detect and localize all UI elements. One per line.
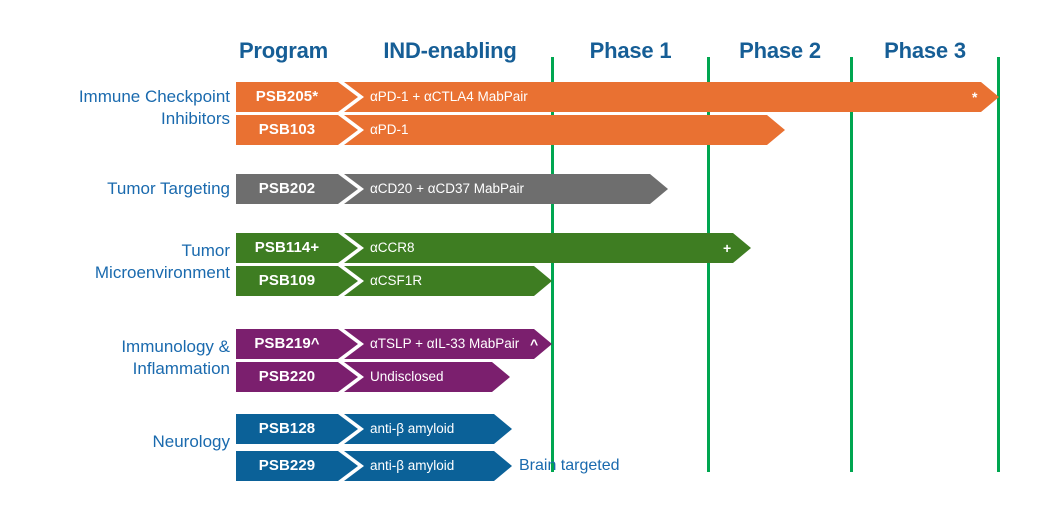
- header-phase-3: Phase 3: [852, 38, 998, 64]
- category-label-immune-checkpoint-inhibitors: Immune Checkpoint Inhibitors: [0, 86, 230, 130]
- program-code-psb220: PSB220: [236, 362, 338, 392]
- program-desc-psb114: αCCR8: [370, 233, 415, 263]
- header-ind-enabling: IND-enabling: [355, 38, 545, 64]
- program-code-psb229: PSB229: [236, 451, 338, 481]
- header-phase-1: Phase 1: [553, 38, 708, 64]
- annotation-brain-targeted: Brain targeted: [519, 451, 620, 481]
- category-label-tumor-microenvironment: Tumor Microenvironment: [0, 240, 230, 284]
- program-marker-psb205: *: [972, 82, 977, 112]
- program-desc-psb103: αPD-1: [370, 115, 409, 145]
- category-label-tumor-targeting: Tumor Targeting: [0, 178, 230, 200]
- program-code-psb128: PSB128: [236, 414, 338, 444]
- program-code-psb109: PSB109: [236, 266, 338, 296]
- header-program: Program: [236, 38, 331, 64]
- program-code-psb205: PSB205*: [236, 82, 338, 112]
- program-bar-psb229[interactable]: PSB229 anti-β amyloid: [236, 451, 512, 481]
- program-desc-psb219: αTSLP + αIL-33 MabPair: [370, 329, 519, 359]
- program-code-psb103: PSB103: [236, 115, 338, 145]
- header-phase-2: Phase 2: [709, 38, 851, 64]
- pipeline-chart: Program IND-enabling Phase 1 Phase 2 Pha…: [0, 0, 1050, 524]
- program-bar-psb103[interactable]: PSB103 αPD-1: [236, 115, 785, 145]
- program-bar-psb202[interactable]: PSB202 αCD20 + αCD37 MabPair: [236, 174, 668, 204]
- program-desc-psb202: αCD20 + αCD37 MabPair: [370, 174, 524, 204]
- program-code-psb202: PSB202: [236, 174, 338, 204]
- program-desc-psb229: anti-β amyloid: [370, 451, 454, 481]
- category-label-neurology: Neurology: [0, 431, 230, 453]
- gridline-phase2-phase3: [850, 57, 853, 472]
- program-marker-psb219: ^: [530, 329, 538, 359]
- program-bar-psb128[interactable]: PSB128 anti-β amyloid: [236, 414, 512, 444]
- category-label-immunology-inflammation: Immunology & Inflammation: [0, 336, 230, 380]
- program-bar-psb220[interactable]: PSB220 Undisclosed: [236, 362, 510, 392]
- program-code-psb114: PSB114+: [236, 233, 338, 263]
- program-bar-psb219[interactable]: PSB219^ αTSLP + αIL-33 MabPair ^: [236, 329, 552, 359]
- program-desc-psb205: αPD-1 + αCTLA4 MabPair: [370, 82, 528, 112]
- program-desc-psb128: anti-β amyloid: [370, 414, 454, 444]
- gridline-phase3-end: [997, 57, 1000, 472]
- program-bar-psb109[interactable]: PSB109 αCSF1R: [236, 266, 552, 296]
- program-bar-psb205[interactable]: PSB205* αPD-1 + αCTLA4 MabPair *: [236, 82, 999, 112]
- program-code-psb219: PSB219^: [236, 329, 338, 359]
- program-marker-psb114: +: [723, 233, 731, 263]
- program-desc-psb109: αCSF1R: [370, 266, 422, 296]
- program-desc-psb220: Undisclosed: [370, 362, 444, 392]
- program-bar-psb114[interactable]: PSB114+ αCCR8 +: [236, 233, 751, 263]
